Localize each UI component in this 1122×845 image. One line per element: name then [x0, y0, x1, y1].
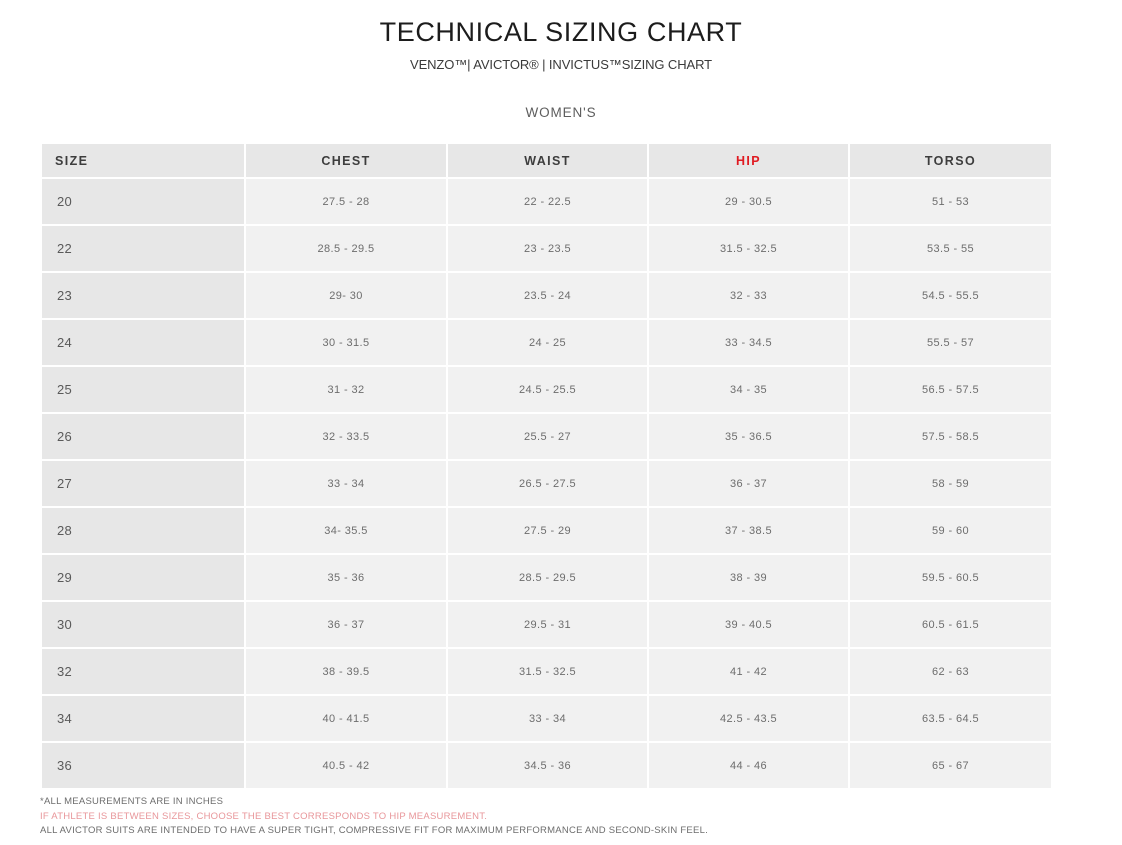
cell-torso: 55.5 - 57 [850, 320, 1051, 365]
cell-torso: 57.5 - 58.5 [850, 414, 1051, 459]
cell-chest: 28.5 - 29.5 [246, 226, 446, 271]
sizing-table-container: SIZE CHEST WAIST HIP TORSO 2027.5 - 2822… [40, 142, 1049, 790]
cell-chest: 34- 35.5 [246, 508, 446, 553]
cell-chest: 32 - 33.5 [246, 414, 446, 459]
cell-chest: 36 - 37 [246, 602, 446, 647]
cell-hip: 32 - 33 [649, 273, 848, 318]
sizing-table: SIZE CHEST WAIST HIP TORSO 2027.5 - 2822… [40, 142, 1053, 790]
cell-torso: 53.5 - 55 [850, 226, 1051, 271]
cell-size: 25 [42, 367, 244, 412]
page-subtitle: VENZO™| AVICTOR® | INVICTUS™SIZING CHART [0, 57, 1122, 73]
table-row: 3238 - 39.531.5 - 32.541 - 4262 - 63 [42, 649, 1051, 694]
column-header-hip: HIP [649, 144, 848, 177]
cell-hip: 35 - 36.5 [649, 414, 848, 459]
cell-waist: 24.5 - 25.5 [448, 367, 647, 412]
section-label-womens: WOMEN'S [0, 105, 1122, 121]
cell-chest: 31 - 32 [246, 367, 446, 412]
cell-torso: 59.5 - 60.5 [850, 555, 1051, 600]
cell-size: 20 [42, 179, 244, 224]
cell-chest: 27.5 - 28 [246, 179, 446, 224]
cell-chest: 40 - 41.5 [246, 696, 446, 741]
cell-waist: 27.5 - 29 [448, 508, 647, 553]
table-row: 2228.5 - 29.523 - 23.531.5 - 32.553.5 - … [42, 226, 1051, 271]
table-row: 2834- 35.527.5 - 2937 - 38.559 - 60 [42, 508, 1051, 553]
cell-hip: 42.5 - 43.5 [649, 696, 848, 741]
table-row: 2935 - 3628.5 - 29.538 - 3959.5 - 60.5 [42, 555, 1051, 600]
table-row: 2531 - 3224.5 - 25.534 - 3556.5 - 57.5 [42, 367, 1051, 412]
cell-torso: 60.5 - 61.5 [850, 602, 1051, 647]
column-header-size: SIZE [42, 144, 244, 177]
cell-size: 32 [42, 649, 244, 694]
table-row: 3036 - 3729.5 - 3139 - 40.560.5 - 61.5 [42, 602, 1051, 647]
cell-size: 23 [42, 273, 244, 318]
cell-waist: 23 - 23.5 [448, 226, 647, 271]
cell-waist: 33 - 34 [448, 696, 647, 741]
cell-waist: 25.5 - 27 [448, 414, 647, 459]
cell-hip: 38 - 39 [649, 555, 848, 600]
cell-size: 30 [42, 602, 244, 647]
cell-size: 22 [42, 226, 244, 271]
cell-torso: 62 - 63 [850, 649, 1051, 694]
cell-torso: 56.5 - 57.5 [850, 367, 1051, 412]
cell-size: 28 [42, 508, 244, 553]
cell-hip: 44 - 46 [649, 743, 848, 788]
cell-hip: 41 - 42 [649, 649, 848, 694]
cell-waist: 28.5 - 29.5 [448, 555, 647, 600]
table-row: 3440 - 41.533 - 3442.5 - 43.563.5 - 64.5 [42, 696, 1051, 741]
cell-waist: 24 - 25 [448, 320, 647, 365]
footer-note: ALL AVICTOR SUITS ARE INTENDED TO HAVE A… [40, 824, 1080, 839]
table-row: 2430 - 31.524 - 2533 - 34.555.5 - 57 [42, 320, 1051, 365]
cell-size: 27 [42, 461, 244, 506]
table-row: 2632 - 33.525.5 - 2735 - 36.557.5 - 58.5 [42, 414, 1051, 459]
cell-hip: 31.5 - 32.5 [649, 226, 848, 271]
cell-waist: 26.5 - 27.5 [448, 461, 647, 506]
cell-hip: 34 - 35 [649, 367, 848, 412]
page-title: TECHNICAL SIZING CHART [0, 16, 1122, 48]
cell-size: 26 [42, 414, 244, 459]
cell-size: 34 [42, 696, 244, 741]
cell-hip: 36 - 37 [649, 461, 848, 506]
cell-hip: 39 - 40.5 [649, 602, 848, 647]
cell-size: 29 [42, 555, 244, 600]
cell-waist: 31.5 - 32.5 [448, 649, 647, 694]
table-row: 2733 - 3426.5 - 27.536 - 3758 - 59 [42, 461, 1051, 506]
cell-chest: 29- 30 [246, 273, 446, 318]
cell-chest: 38 - 39.5 [246, 649, 446, 694]
cell-torso: 65 - 67 [850, 743, 1051, 788]
cell-waist: 29.5 - 31 [448, 602, 647, 647]
cell-torso: 63.5 - 64.5 [850, 696, 1051, 741]
table-row: 3640.5 - 4234.5 - 3644 - 4665 - 67 [42, 743, 1051, 788]
table-row: 2027.5 - 2822 - 22.529 - 30.551 - 53 [42, 179, 1051, 224]
cell-chest: 35 - 36 [246, 555, 446, 600]
table-row: 2329- 3023.5 - 2432 - 3354.5 - 55.5 [42, 273, 1051, 318]
cell-torso: 59 - 60 [850, 508, 1051, 553]
cell-waist: 22 - 22.5 [448, 179, 647, 224]
cell-waist: 23.5 - 24 [448, 273, 647, 318]
cell-hip: 29 - 30.5 [649, 179, 848, 224]
cell-torso: 58 - 59 [850, 461, 1051, 506]
cell-size: 24 [42, 320, 244, 365]
footer-note: IF ATHLETE IS BETWEEN SIZES, CHOOSE THE … [40, 810, 1080, 825]
column-header-chest: CHEST [246, 144, 446, 177]
cell-chest: 33 - 34 [246, 461, 446, 506]
cell-hip: 33 - 34.5 [649, 320, 848, 365]
cell-waist: 34.5 - 36 [448, 743, 647, 788]
cell-size: 36 [42, 743, 244, 788]
cell-torso: 51 - 53 [850, 179, 1051, 224]
cell-chest: 30 - 31.5 [246, 320, 446, 365]
column-header-torso: TORSO [850, 144, 1051, 177]
footer-note: *ALL MEASUREMENTS ARE IN INCHES [40, 795, 1080, 810]
table-header-row: SIZE CHEST WAIST HIP TORSO [42, 144, 1051, 177]
cell-torso: 54.5 - 55.5 [850, 273, 1051, 318]
footer-notes: *ALL MEASUREMENTS ARE IN INCHESIF ATHLET… [40, 795, 1080, 839]
table-body: 2027.5 - 2822 - 22.529 - 30.551 - 532228… [42, 179, 1051, 788]
cell-hip: 37 - 38.5 [649, 508, 848, 553]
column-header-waist: WAIST [448, 144, 647, 177]
cell-chest: 40.5 - 42 [246, 743, 446, 788]
